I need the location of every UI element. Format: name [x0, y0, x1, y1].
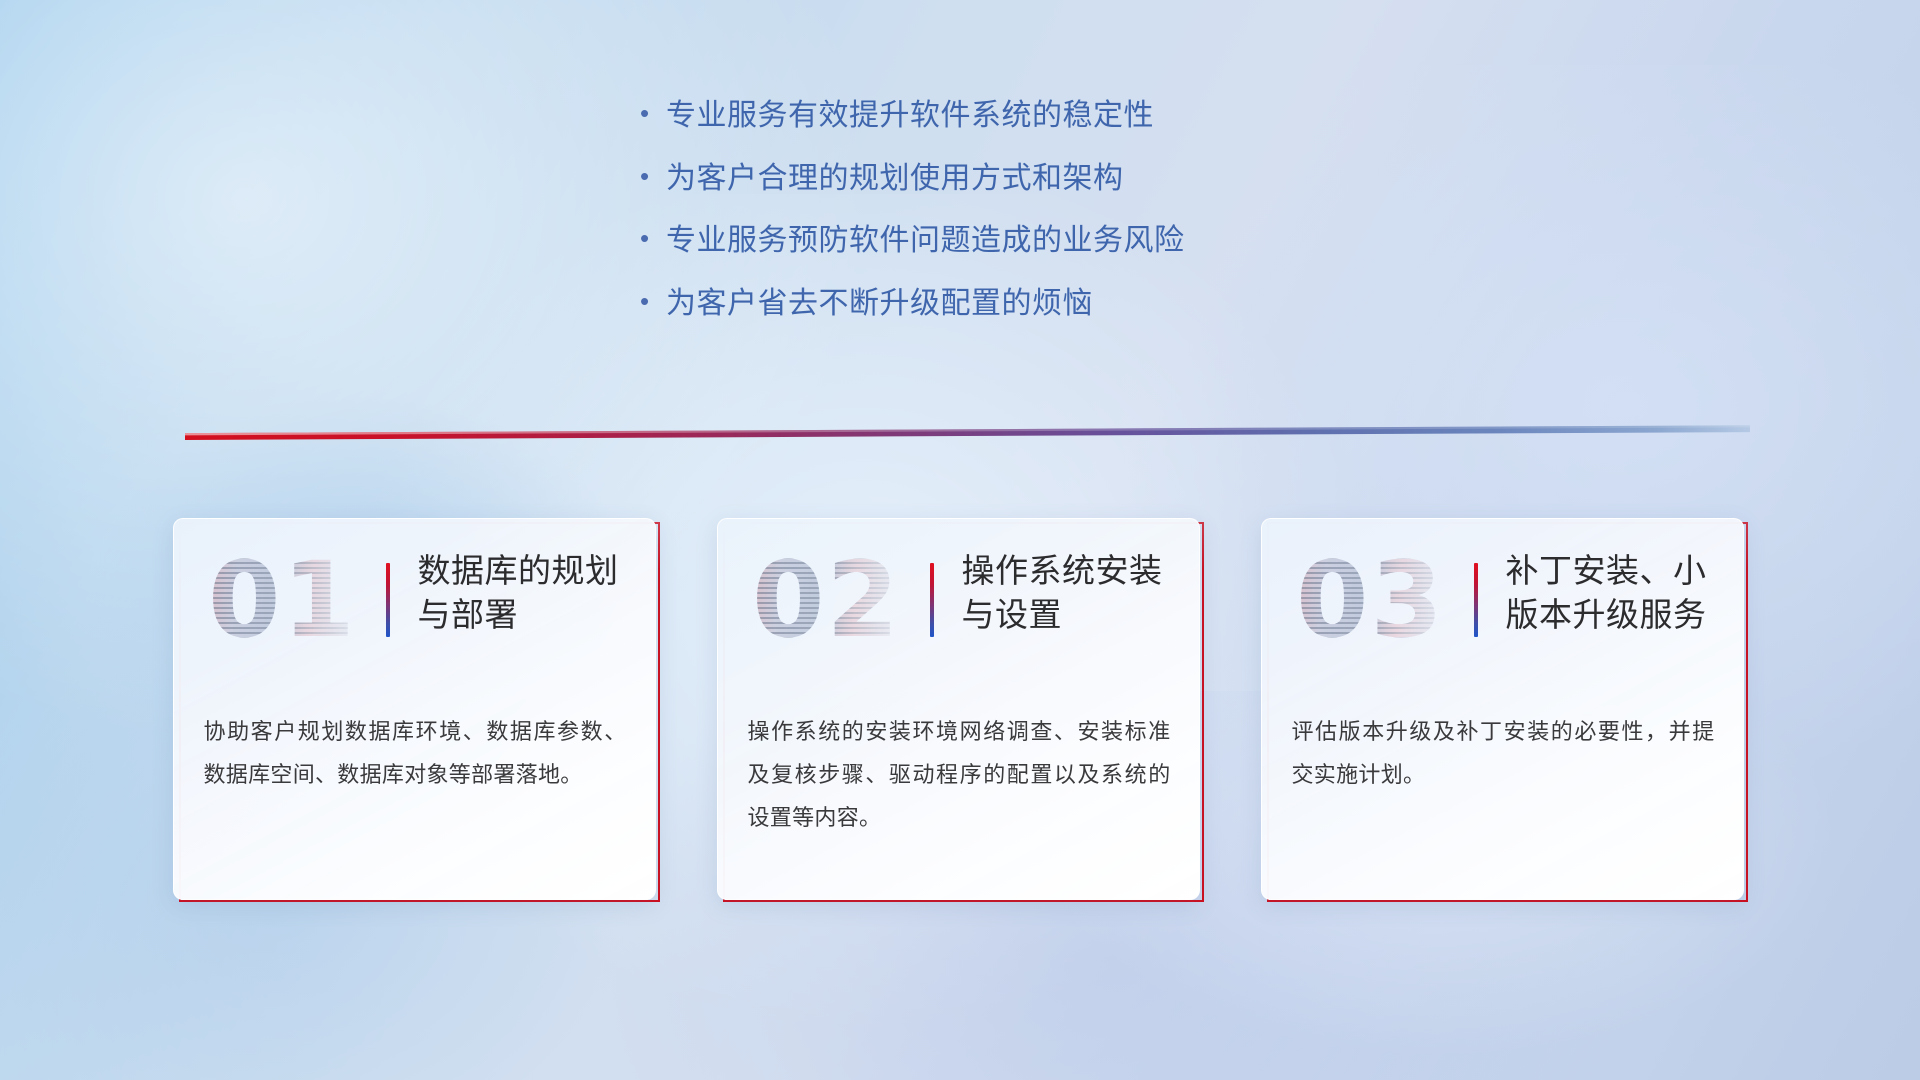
service-card-01[interactable]: 01 数据库的规划与部署 协助客户规划数据库环境、数据库参数、数据库空间、数据库…: [173, 518, 660, 902]
card-title-accent-bar: [386, 563, 390, 637]
card-description: 协助客户规划数据库环境、数据库参数、数据库空间、数据库对象等部署落地。: [204, 711, 627, 797]
service-card-list: 01 数据库的规划与部署 协助客户规划数据库环境、数据库参数、数据库空间、数据库…: [0, 518, 1920, 902]
card-number-02: 02: [744, 541, 910, 659]
card-number-03: 03: [1288, 541, 1454, 659]
card-header: 01 数据库的规划与部署: [174, 519, 655, 687]
card-title: 补丁安装、小版本升级服务: [1506, 549, 1725, 637]
bullet-text: 为客户合理的规划使用方式和架构: [666, 159, 1124, 200]
bullet-dot-icon: •: [640, 288, 666, 314]
list-item: • 专业服务有效提升软件系统的稳定性: [640, 96, 1280, 137]
card-header: 03 补丁安装、小版本升级服务: [1262, 519, 1743, 687]
bullet-dot-icon: •: [640, 225, 666, 251]
card-header: 02 操作系统安装与设置: [718, 519, 1199, 687]
list-item: • 专业服务预防软件问题造成的业务风险: [640, 221, 1280, 262]
card-title-accent-bar: [930, 563, 934, 637]
list-item: • 为客户合理的规划使用方式和架构: [640, 159, 1280, 200]
bullet-dot-icon: •: [640, 100, 666, 126]
card-description: 评估版本升级及补丁安装的必要性，并提交实施计划。: [1292, 711, 1715, 797]
card-title: 数据库的规划与部署: [418, 549, 637, 637]
benefits-bullet-list: • 专业服务有效提升软件系统的稳定性 • 为客户合理的规划使用方式和架构 • 专…: [0, 96, 1920, 346]
card-description: 操作系统的安装环境网络调查、安装标准及复核步骤、驱动程序的配置以及系统的设置等内…: [748, 711, 1171, 840]
card-face: 01 数据库的规划与部署 协助客户规划数据库环境、数据库参数、数据库空间、数据库…: [173, 518, 656, 900]
section-divider: [185, 422, 1750, 440]
card-title-accent-bar: [1474, 563, 1478, 637]
card-title: 操作系统安装与设置: [962, 549, 1181, 637]
service-card-03[interactable]: 03 补丁安装、小版本升级服务 评估版本升级及补丁安装的必要性，并提交实施计划。: [1261, 518, 1748, 902]
bullet-dot-icon: •: [640, 163, 666, 189]
bullet-text: 专业服务预防软件问题造成的业务风险: [666, 221, 1185, 262]
bullet-text: 专业服务有效提升软件系统的稳定性: [666, 96, 1154, 137]
card-face: 02 操作系统安装与设置 操作系统的安装环境网络调查、安装标准及复核步骤、驱动程…: [717, 518, 1200, 900]
card-number-01: 01: [200, 541, 366, 659]
bullet-text: 为客户省去不断升级配置的烦恼: [666, 284, 1093, 325]
service-card-02[interactable]: 02 操作系统安装与设置 操作系统的安装环境网络调查、安装标准及复核步骤、驱动程…: [717, 518, 1204, 902]
card-face: 03 补丁安装、小版本升级服务 评估版本升级及补丁安装的必要性，并提交实施计划。: [1261, 518, 1744, 900]
list-item: • 为客户省去不断升级配置的烦恼: [640, 284, 1280, 325]
